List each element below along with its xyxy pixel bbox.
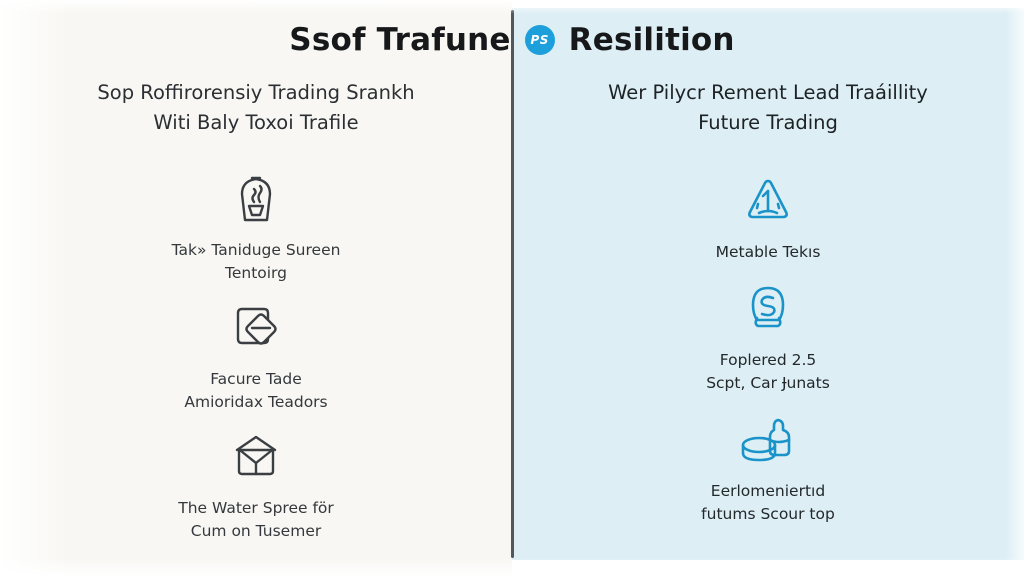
slide-header: Ssof Trafune PS Resilition <box>0 16 1024 64</box>
title-text-before: Ssof Trafune <box>289 22 510 58</box>
two-column-body: Sop Roffirorensiy Trading Srankh Witi Ba… <box>0 0 1024 576</box>
list-item-caption: The Water Spree för Cum on Tusemer <box>178 497 334 543</box>
caption-line-2: Tentoirg <box>172 262 341 285</box>
caption-line-1: Tak» Taniduge Sureen <box>172 239 341 262</box>
ps-badge-icon: PS <box>525 25 555 55</box>
left-subtitle-line-1: Sop Roffirorensiy Trading Srankh <box>56 78 456 108</box>
jar-and-disc-icon <box>731 409 805 471</box>
list-item: Facure Tade Amioridax Teadors <box>91 297 421 414</box>
right-subtitle-line-1: Wer Pilycr Rement Lead Traáillity <box>568 78 968 108</box>
caption-line-2: Cum on Tusemer <box>178 520 334 543</box>
list-item: Eerlomeniertıd futums Scour top <box>603 409 933 526</box>
list-item-caption: Eerlomeniertıd futums Scour top <box>701 480 835 526</box>
list-item-caption: Tak» Taniduge Sureen Tentoirg <box>172 239 341 285</box>
caption-line-1: The Water Spree för <box>178 497 334 520</box>
right-column-items: Metable Tekıs Foplered 2.5 Sc <box>603 156 933 526</box>
slide-canvas: Ssof Trafune PS Resilition Sop Roffirore… <box>0 0 1024 576</box>
caption-line-2: Amioridax Teadors <box>184 391 327 414</box>
list-item-caption: Foplered 2.5 Scpt, Car Ɉunats <box>706 349 830 395</box>
envelope-house-icon <box>219 426 293 488</box>
list-item-caption: Metable Tekıs <box>716 241 821 264</box>
left-column: Sop Roffirorensiy Trading Srankh Witi Ba… <box>0 0 512 576</box>
steaming-cup-icon <box>219 168 293 230</box>
caption-line-1: Metable Tekıs <box>716 241 821 264</box>
list-item: Tak» Taniduge Sureen Tentoirg <box>91 168 421 285</box>
title-text-after: Resilition <box>569 22 735 58</box>
list-item: The Water Spree för Cum on Tusemer <box>91 426 421 543</box>
ps-badge-label: PS <box>530 33 548 47</box>
caption-line-1: Facure Tade <box>184 368 327 391</box>
right-column: Wer Pilycr Rement Lead Traáillity Future… <box>512 0 1024 576</box>
card-swap-icon <box>219 297 293 359</box>
globe-sphere-icon <box>731 278 805 340</box>
warning-triangle-icon <box>731 170 805 232</box>
list-item: Foplered 2.5 Scpt, Car Ɉunats <box>603 278 933 395</box>
caption-line-2: Scpt, Car Ɉunats <box>706 372 830 395</box>
right-column-subtitle: Wer Pilycr Rement Lead Traáillity Future… <box>568 78 968 138</box>
left-column-items: Tak» Taniduge Sureen Tentoirg Facure Tad… <box>91 156 421 543</box>
left-column-subtitle: Sop Roffirorensiy Trading Srankh Witi Ba… <box>56 78 456 138</box>
caption-line-2: futums Scour top <box>701 503 835 526</box>
caption-line-1: Eerlomeniertıd <box>701 480 835 503</box>
right-subtitle-line-2: Future Trading <box>568 108 968 138</box>
list-item-caption: Facure Tade Amioridax Teadors <box>184 368 327 414</box>
left-subtitle-line-2: Witi Baly Toxoi Trafile <box>56 108 456 138</box>
caption-line-1: Foplered 2.5 <box>706 349 830 372</box>
list-item: Metable Tekıs <box>603 170 933 264</box>
